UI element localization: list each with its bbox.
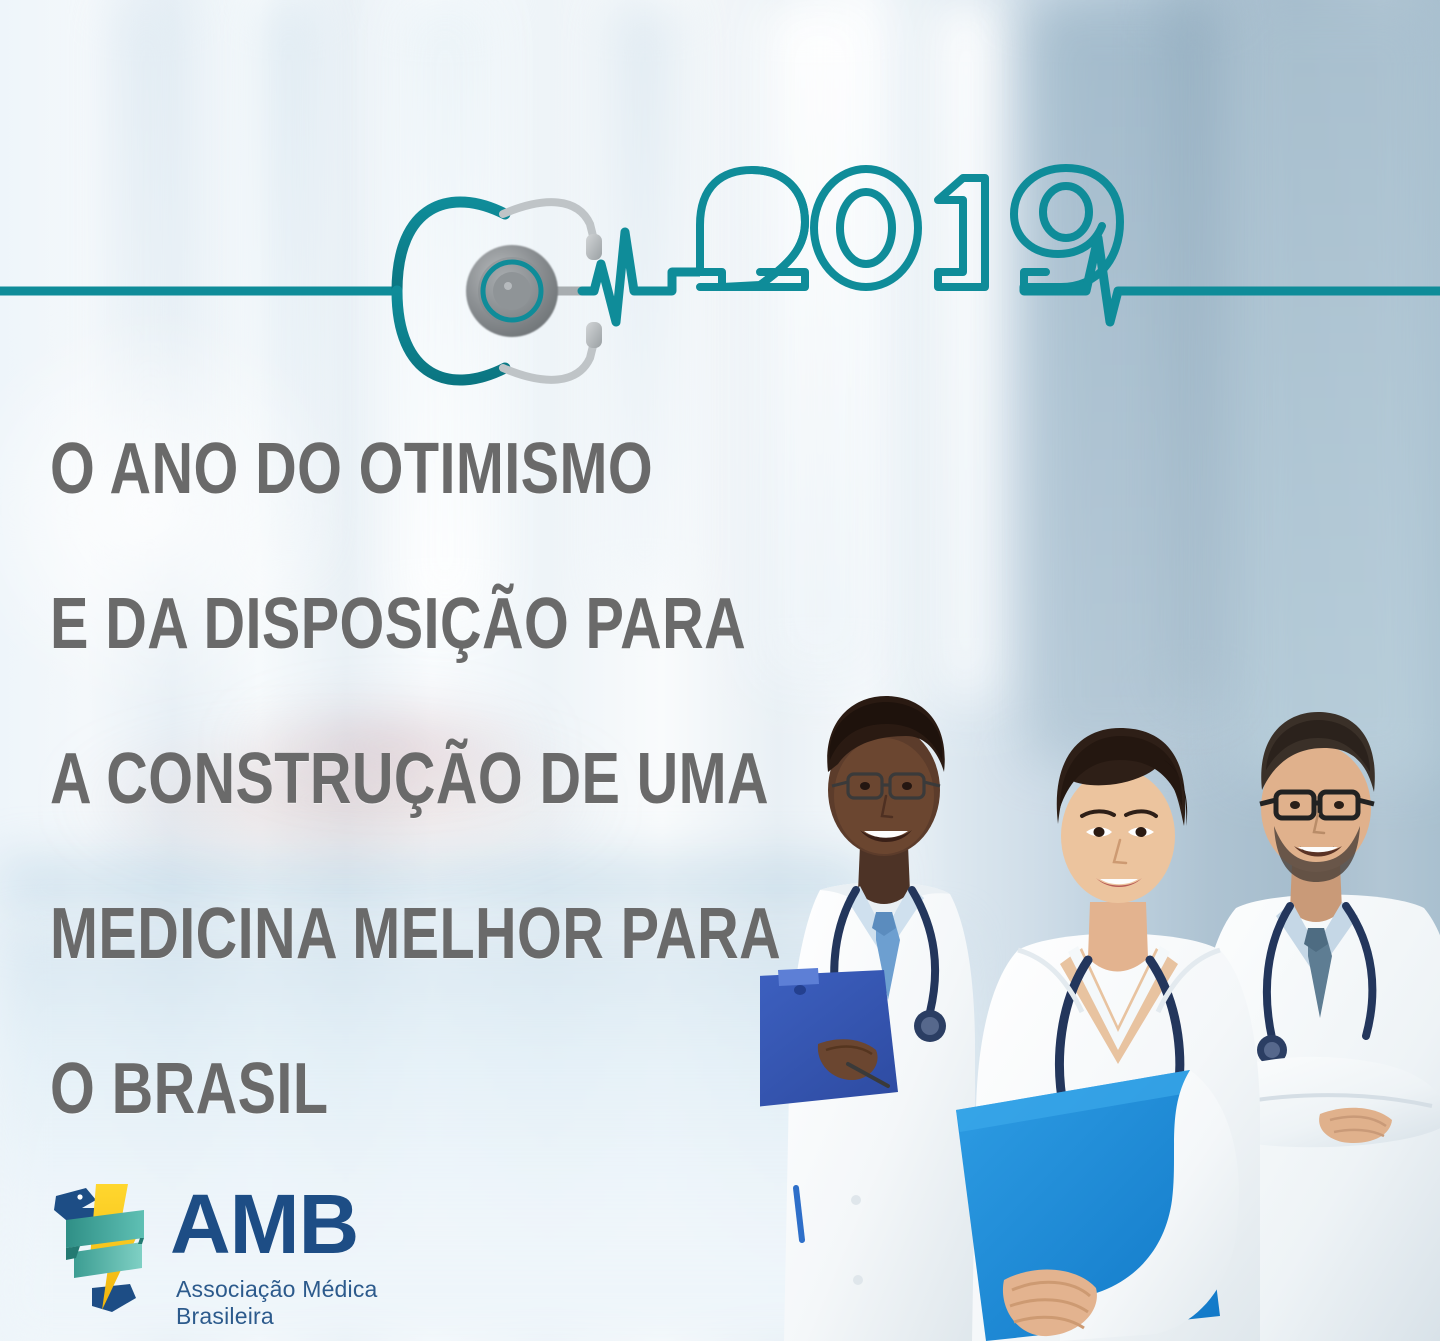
header-graphic (0, 0, 1440, 400)
headline-line-1: O ANO DO OTIMISMO (50, 392, 706, 547)
headline-line-4: MEDICINA MELHOR PARA (50, 857, 706, 1012)
ribbon-band (74, 1242, 142, 1278)
poster-canvas: O ANO DO OTIMISMO E DA DISPOSIÇÃO PARA A… (0, 0, 1440, 1341)
amb-logo[interactable]: AMB Associação Médica Brasileira (52, 1168, 392, 1318)
doctors-photo (760, 640, 1440, 1341)
stethoscope-icon (397, 202, 602, 380)
serpent-tail (92, 1284, 136, 1312)
amb-logo-mark (52, 1168, 168, 1316)
headline-block: O ANO DO OTIMISMO E DA DISPOSIÇÃO PARA A… (50, 392, 870, 1167)
amb-logo-acronym: AMB (170, 1182, 358, 1266)
amb-logo-subtitle: Associação Médica Brasileira (176, 1276, 392, 1330)
year-2019-outline (700, 168, 1120, 287)
headline-line-3: A CONSTRUÇÃO DE UMA (50, 702, 706, 857)
headline-line-5: O BRASIL (50, 1012, 706, 1167)
headline-line-2: E DA DISPOSIÇÃO PARA (50, 547, 706, 702)
